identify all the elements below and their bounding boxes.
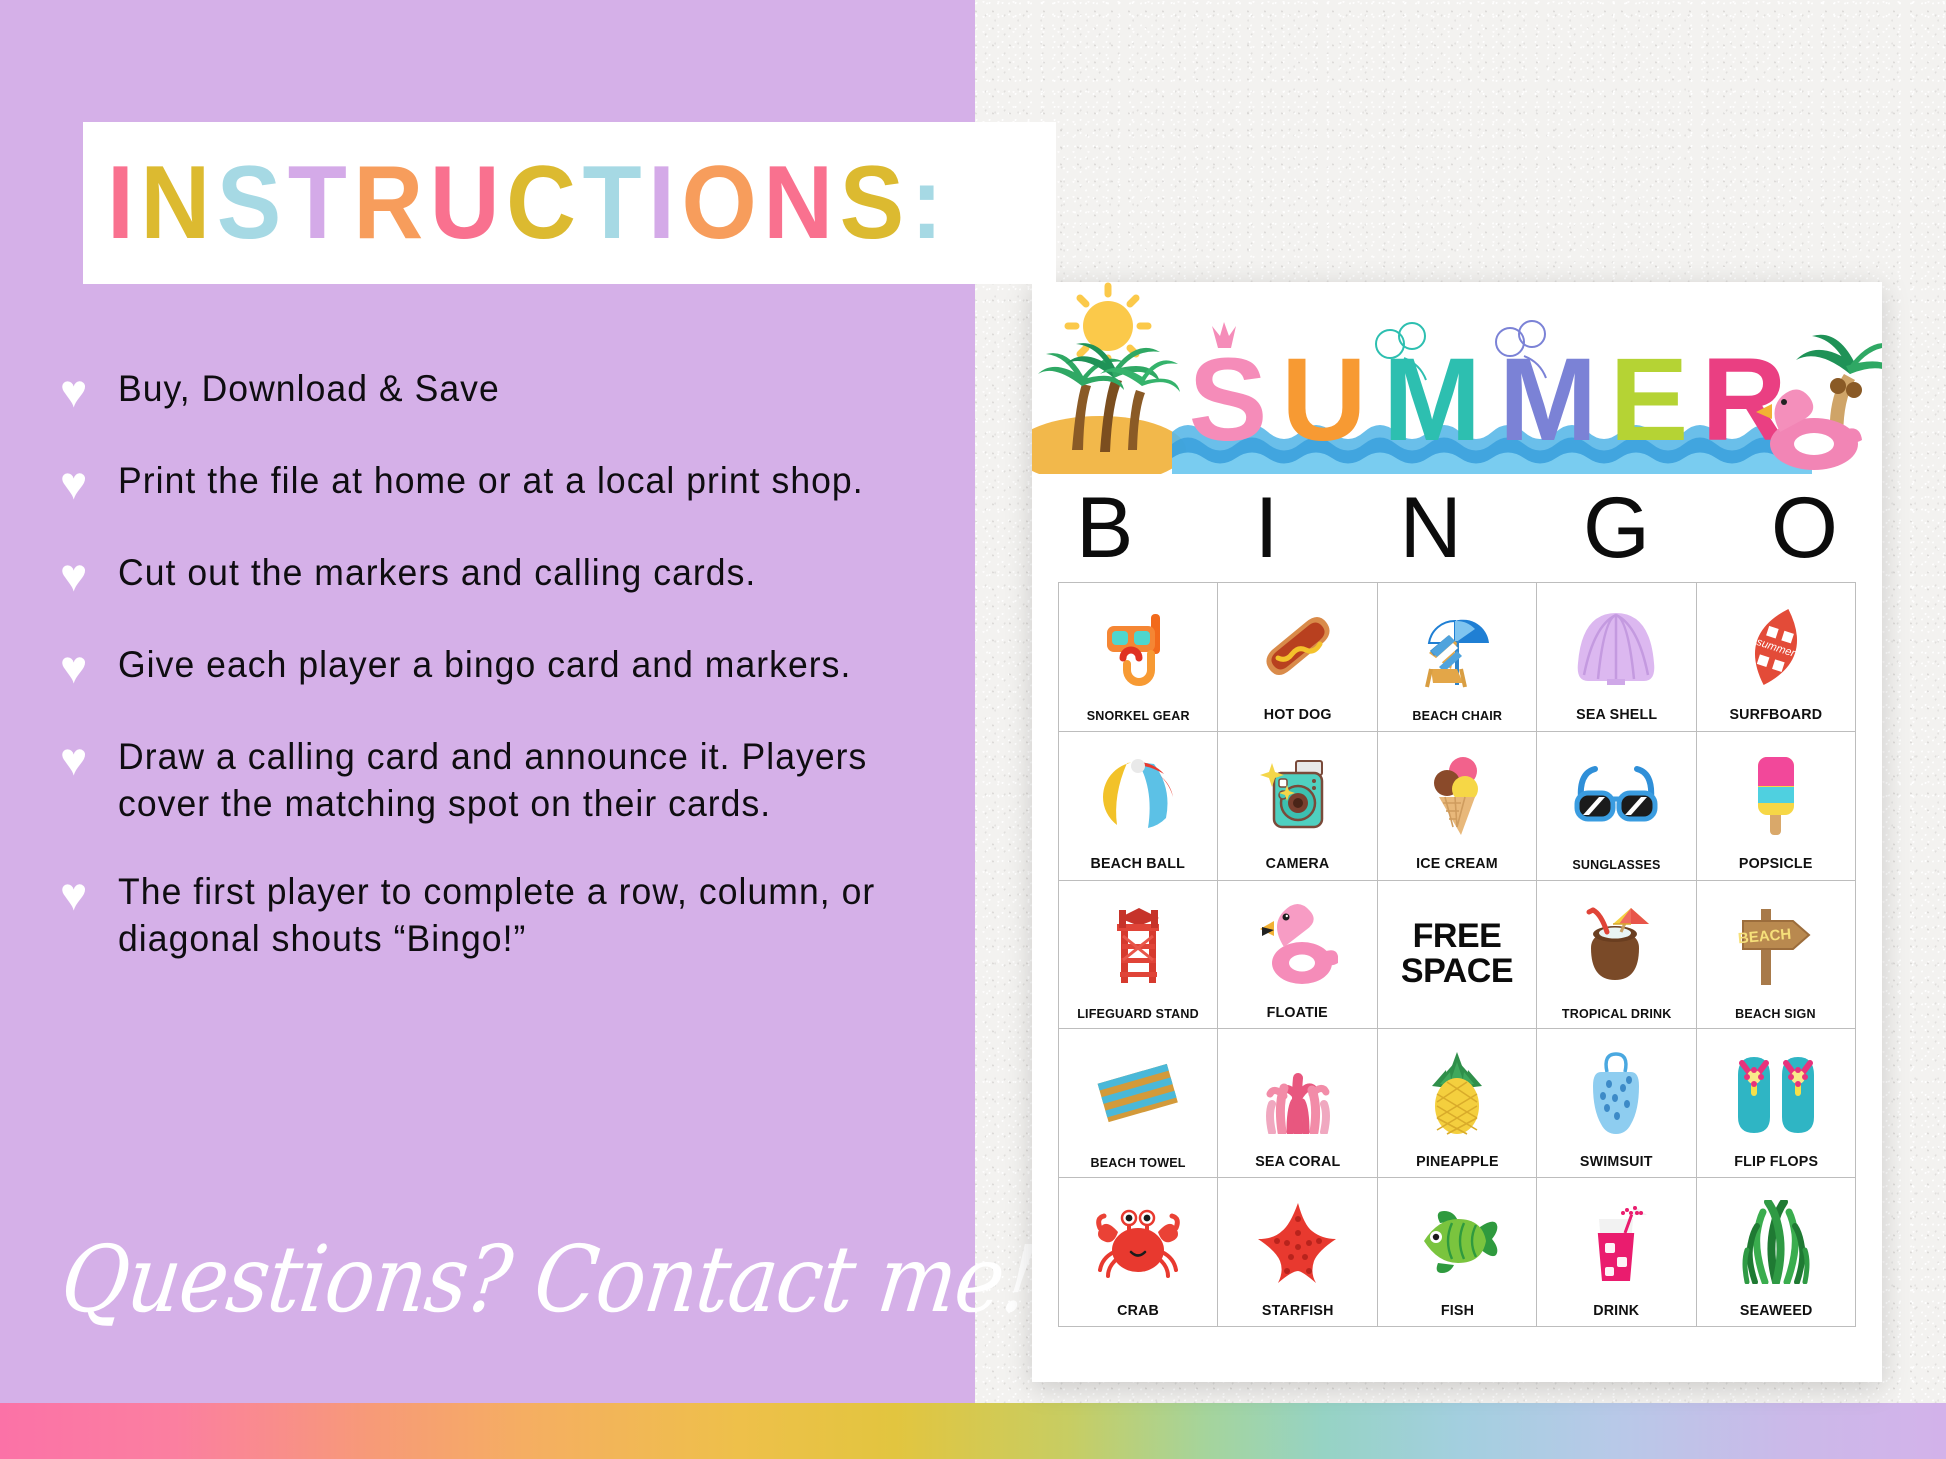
summer-banner-art: S U M M E R xyxy=(1032,282,1882,474)
bingo-cell-label: SURFBOARD xyxy=(1729,704,1822,724)
flamingo-floatie-icon xyxy=(1220,887,1374,1002)
bingo-cell[interactable]: SNORKEL GEAR xyxy=(1059,583,1218,732)
bingo-cell-label: ICE CREAM xyxy=(1416,853,1498,873)
title-letter-2: S xyxy=(217,151,288,255)
title-letter-7: T xyxy=(582,151,648,255)
summer-banner: S U M M E R xyxy=(1032,282,1882,474)
title-letter-5: U xyxy=(430,151,506,255)
pineapple-icon xyxy=(1380,1035,1534,1150)
bingo-cell-label: BEACH BALL xyxy=(1091,853,1186,873)
bingo-cell-label: TROPICAL DRINK xyxy=(1562,1004,1672,1022)
bingo-cell[interactable]: BEACH BEACH SIGN xyxy=(1697,881,1856,1030)
title-letter-6: C xyxy=(506,151,582,255)
title-letter-12: : xyxy=(911,151,950,255)
popsicle-icon xyxy=(1699,738,1853,853)
swimsuit-icon xyxy=(1539,1035,1693,1150)
beach-sign-icon: BEACH xyxy=(1699,887,1853,1004)
summer-letter-s: S xyxy=(1189,334,1268,466)
drink-cup-icon xyxy=(1539,1184,1693,1299)
list-item-text: Draw a calling card and announce it. Pla… xyxy=(118,733,924,828)
free-space-label: FREESPACE xyxy=(1401,919,1513,988)
title-letter-8: I xyxy=(648,151,681,255)
bingo-cell-label: FLOATIE xyxy=(1267,1002,1328,1022)
bingo-cell[interactable]: POPSICLE xyxy=(1697,732,1856,881)
bingo-cell-label: SWIMSUIT xyxy=(1580,1151,1653,1171)
beach-ball-icon xyxy=(1061,738,1215,853)
instructions-list: ♥ Buy, Download & Save ♥ Print the file … xyxy=(56,365,976,1002)
bingo-cell[interactable]: TROPICAL DRINK xyxy=(1537,881,1696,1030)
bingo-cell-label: SEA SHELL xyxy=(1576,704,1657,724)
bingo-cell-label: DRINK xyxy=(1593,1300,1639,1320)
lifeguard-stand-icon xyxy=(1061,887,1215,1004)
sea-coral-icon xyxy=(1220,1035,1374,1150)
bingo-letter-g: G xyxy=(1583,485,1650,571)
bingo-cell-label: BEACH TOWEL xyxy=(1091,1153,1186,1171)
bingo-cell[interactable]: CRAB xyxy=(1059,1178,1218,1327)
beach-towel-icon xyxy=(1061,1035,1215,1152)
bingo-cell-label: SEA CORAL xyxy=(1255,1151,1340,1171)
bingo-cell[interactable]: FLIP FLOPS xyxy=(1697,1029,1856,1178)
bingo-cell[interactable]: ICE CREAM xyxy=(1378,732,1537,881)
sunglasses-icon xyxy=(1539,738,1693,855)
summer-letter-m1: M xyxy=(1383,334,1481,466)
bingo-headline: B I N G O xyxy=(1032,474,1882,578)
bingo-cell-label: SNORKEL GEAR xyxy=(1087,706,1190,724)
starfish-icon xyxy=(1220,1184,1374,1299)
bingo-cell[interactable]: DRINK xyxy=(1537,1178,1696,1327)
bingo-cell-label: POPSICLE xyxy=(1739,853,1813,873)
bingo-cell[interactable]: SEA SHELL xyxy=(1537,583,1696,732)
list-item: ♥ Give each player a bingo card and mark… xyxy=(56,641,976,693)
bingo-cell[interactable]: FISH xyxy=(1378,1178,1537,1327)
list-item: ♥ Buy, Download & Save xyxy=(56,365,976,417)
bingo-cell[interactable]: BEACH CHAIR xyxy=(1378,583,1537,732)
hot-dog-icon xyxy=(1220,589,1374,704)
title-letter-11: S xyxy=(840,151,911,255)
bingo-cell-label: LIFEGUARD STAND xyxy=(1077,1004,1199,1022)
bingo-cell-label: SEAWEED xyxy=(1739,1300,1812,1320)
title-letter-4: R xyxy=(353,151,429,255)
coconut-drink-icon xyxy=(1539,887,1693,1004)
bingo-cell-label: CAMERA xyxy=(1266,853,1330,873)
bingo-cell-label: SUNGLASSES xyxy=(1572,855,1660,873)
bingo-letter-o: O xyxy=(1771,485,1838,571)
title-letter-10: N xyxy=(763,151,839,255)
bingo-cell-label: PINEAPPLE xyxy=(1416,1151,1498,1171)
heart-icon: ♥ xyxy=(56,457,118,509)
bottom-gradient-bar xyxy=(0,1403,1946,1459)
bingo-cell[interactable]: FLOATIE xyxy=(1218,881,1377,1030)
list-item-text: Buy, Download & Save xyxy=(118,365,924,412)
ice-cream-icon xyxy=(1380,738,1534,853)
list-item-text: Print the file at home or at a local pri… xyxy=(118,457,924,504)
list-item: ♥ Draw a calling card and announce it. P… xyxy=(56,733,976,828)
sea-shell-icon xyxy=(1539,589,1693,704)
snorkel-gear-icon xyxy=(1061,589,1215,706)
bingo-cell-label: BEACH CHAIR xyxy=(1412,706,1502,724)
contact-script-text: Questions? Contact me! xyxy=(56,1235,927,1327)
bingo-cell[interactable]: SEAWEED xyxy=(1697,1178,1856,1327)
bingo-cell[interactable]: CAMERA xyxy=(1218,732,1377,881)
camera-icon xyxy=(1220,738,1374,853)
list-item: ♥ The first player to complete a row, co… xyxy=(56,868,976,963)
list-item-text: Give each player a bingo card and marker… xyxy=(118,641,924,688)
summer-letter-e: E xyxy=(1610,334,1689,466)
surfboard-icon: summer xyxy=(1699,589,1853,704)
bingo-letter-n: N xyxy=(1400,485,1462,571)
crab-icon xyxy=(1061,1184,1215,1299)
bingo-cell[interactable]: HOT DOG xyxy=(1218,583,1377,732)
bingo-grid: SNORKEL GEAR HOT DOG xyxy=(1058,582,1856,1327)
bingo-cell-label: HOT DOG xyxy=(1264,704,1332,724)
bingo-cell[interactable]: summer SURFBOARD xyxy=(1697,583,1856,732)
beach-chair-icon xyxy=(1380,589,1534,706)
heart-icon: ♥ xyxy=(56,641,118,693)
heart-icon: ♥ xyxy=(56,868,118,920)
bingo-cell-label: BEACH SIGN xyxy=(1736,1004,1817,1022)
bingo-cell[interactable]: LIFEGUARD STAND xyxy=(1059,881,1218,1030)
bingo-cell[interactable]: SEA CORAL xyxy=(1218,1029,1377,1178)
bingo-cell-label: CRAB xyxy=(1117,1300,1159,1320)
list-item-text: Cut out the markers and calling cards. xyxy=(118,549,924,596)
fish-icon xyxy=(1380,1184,1534,1299)
bingo-cell-label: STARFISH xyxy=(1262,1300,1334,1320)
bingo-cell[interactable]: BEACH BALL xyxy=(1059,732,1218,881)
heart-icon: ♥ xyxy=(56,365,118,417)
list-item-text: The first player to complete a row, colu… xyxy=(118,868,924,963)
summer-letter-m2: M xyxy=(1499,334,1597,466)
instructions-title-card: INSTRUCTIONS: xyxy=(83,122,1056,284)
bingo-cell-label: FLIP FLOPS xyxy=(1734,1151,1818,1171)
list-item: ♥ Cut out the markers and calling cards. xyxy=(56,549,976,601)
heart-icon: ♥ xyxy=(56,549,118,601)
bingo-cell[interactable]: SUNGLASSES xyxy=(1537,732,1696,881)
summer-letter-u: U xyxy=(1281,334,1366,466)
bingo-cell[interactable]: SWIMSUIT xyxy=(1537,1029,1696,1178)
bingo-letter-i: I xyxy=(1255,485,1279,571)
flip-flops-icon xyxy=(1699,1035,1853,1150)
bingo-cell-free-space[interactable]: FREESPACE xyxy=(1378,881,1537,1030)
bingo-cell-label: FISH xyxy=(1440,1300,1473,1320)
bingo-card: S U M M E R xyxy=(1032,282,1882,1382)
bingo-letter-b: B xyxy=(1076,485,1133,571)
title-letter-9: O xyxy=(681,151,763,255)
heart-icon: ♥ xyxy=(56,733,118,785)
title-letter-3: T xyxy=(288,151,354,255)
seaweed-icon xyxy=(1699,1184,1853,1299)
list-item: ♥ Print the file at home or at a local p… xyxy=(56,457,976,509)
bingo-cell[interactable]: PINEAPPLE xyxy=(1378,1029,1537,1178)
title-letter-0: I xyxy=(107,151,140,255)
bingo-cell[interactable]: STARFISH xyxy=(1218,1178,1377,1327)
bingo-cell[interactable]: BEACH TOWEL xyxy=(1059,1029,1218,1178)
title-letter-1: N xyxy=(140,151,216,255)
page-title: INSTRUCTIONS: xyxy=(107,151,949,255)
